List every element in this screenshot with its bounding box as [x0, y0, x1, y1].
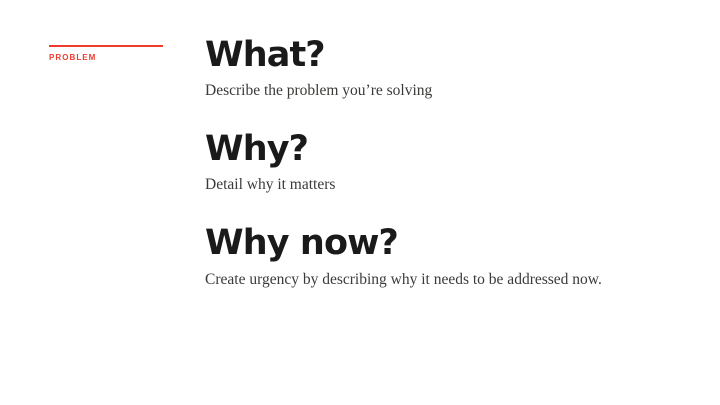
- eyebrow-rule: [49, 45, 163, 47]
- block-body-why-now: Create urgency by describing why it need…: [205, 268, 637, 292]
- block-heading-what: What?: [205, 36, 640, 75]
- block-body-why: Detail why it matters: [205, 173, 637, 197]
- section-eyebrow: PROBLEM: [49, 45, 189, 62]
- content-block-why-now: Why now? Create urgency by describing wh…: [205, 224, 640, 291]
- content-block-why: Why? Detail why it matters: [205, 130, 640, 197]
- block-heading-why-now: Why now?: [205, 224, 640, 263]
- block-heading-why: Why?: [205, 130, 640, 169]
- slide-content: What? Describe the problem you’re solvin…: [205, 36, 640, 292]
- block-body-what: Describe the problem you’re solving: [205, 79, 637, 103]
- section-label: PROBLEM: [49, 54, 189, 62]
- content-block-what: What? Describe the problem you’re solvin…: [205, 36, 640, 103]
- slide-canvas: PROBLEM What? Describe the problem you’r…: [0, 0, 720, 405]
